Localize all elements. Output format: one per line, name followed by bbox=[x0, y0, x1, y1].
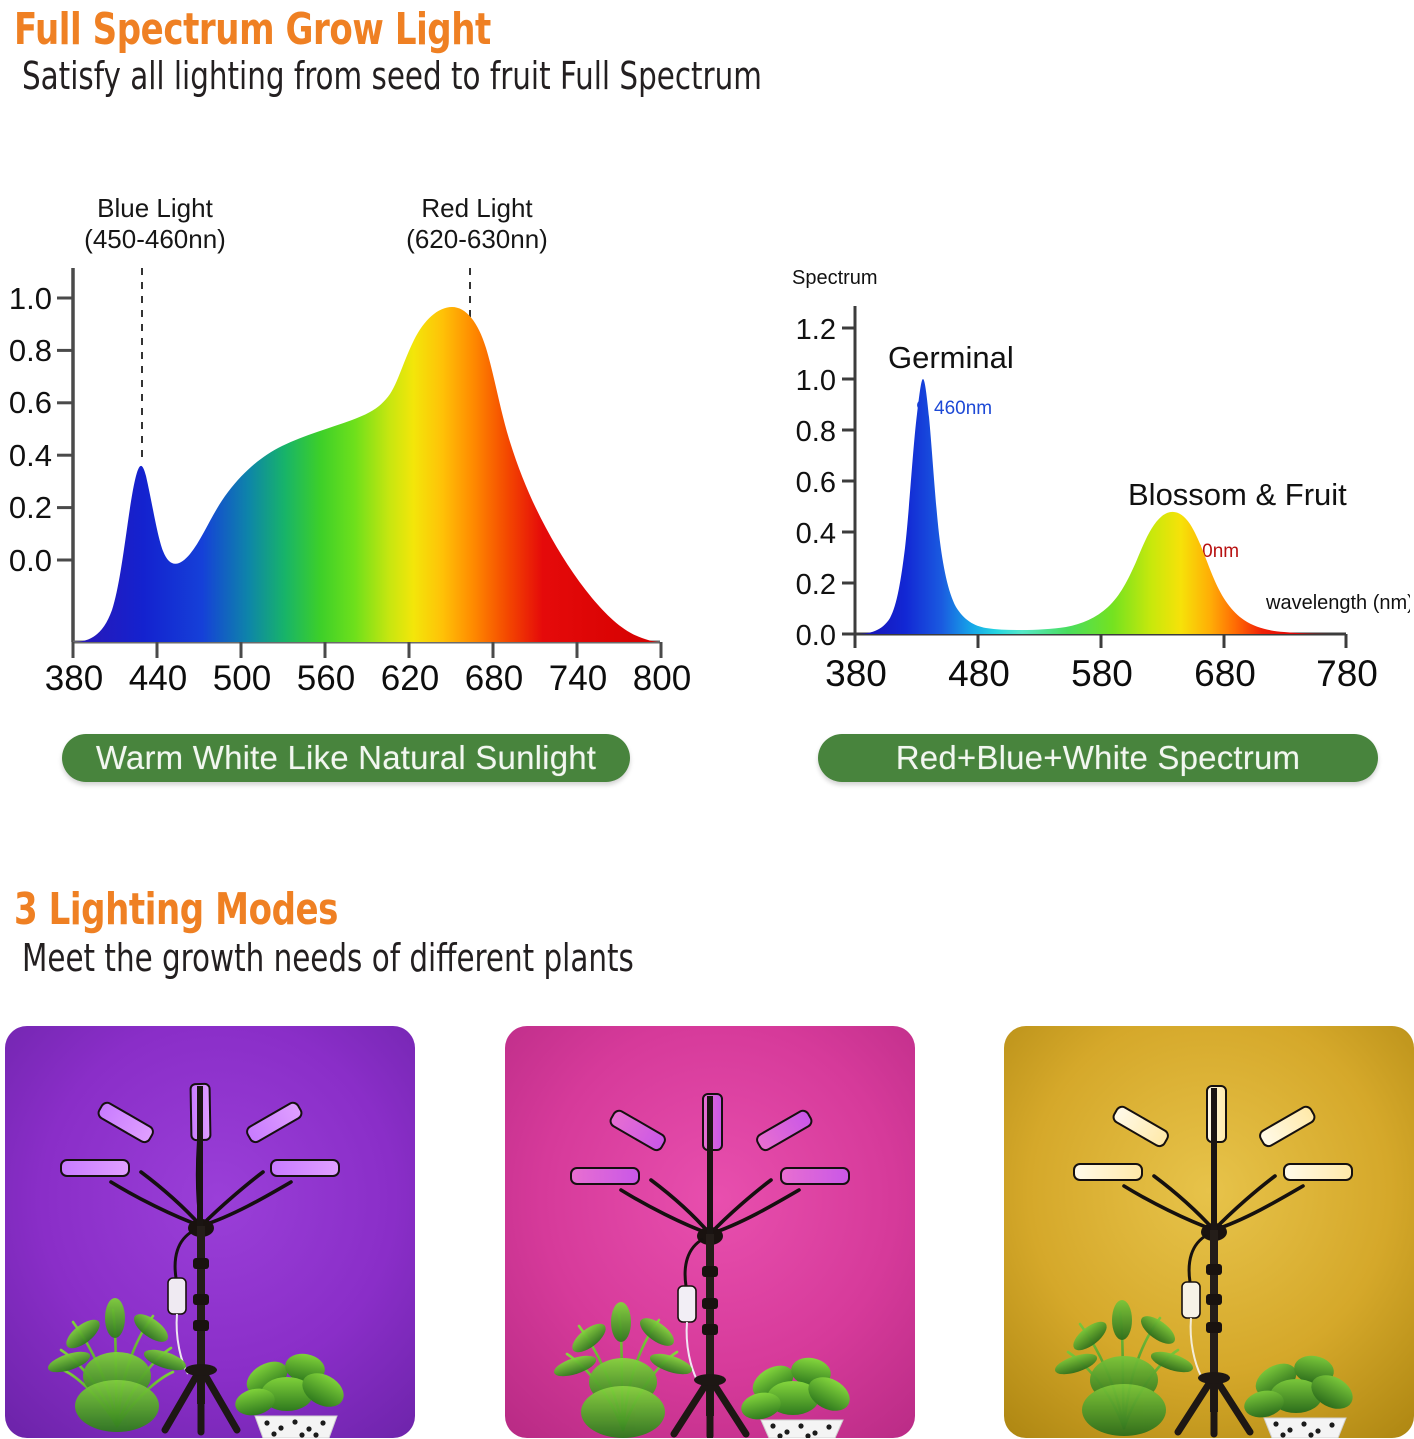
chart1-x-tick-labels: 380 440 500 560 620 680 740 800 bbox=[45, 659, 691, 698]
section-2-title: 3 Lighting Modes bbox=[14, 884, 338, 935]
x-tick: 500 bbox=[213, 659, 271, 698]
x-tick: 480 bbox=[948, 653, 1010, 694]
x-tick: 800 bbox=[633, 659, 691, 698]
controller-box bbox=[168, 1278, 186, 1314]
chart2-x-ticks bbox=[855, 634, 1346, 648]
banner-warm-white: Warm White Like Natural Sunlight bbox=[62, 734, 630, 782]
flower-pot bbox=[1264, 1418, 1346, 1438]
mode-photo-red-pink bbox=[505, 1026, 915, 1438]
section-1-subtitle: Satisfy all lighting from seed to fruit … bbox=[22, 54, 762, 98]
mode-photo-blue-purple bbox=[5, 1026, 415, 1438]
x-tick: 580 bbox=[1071, 653, 1133, 694]
section-1-title: Full Spectrum Grow Light bbox=[14, 4, 491, 55]
controller-box bbox=[1182, 1282, 1200, 1318]
x-tick: 440 bbox=[129, 659, 187, 698]
mode-photo-warm-white bbox=[1004, 1026, 1414, 1438]
x-tick: 380 bbox=[45, 659, 103, 698]
banner-red-blue-white-label: Red+Blue+White Spectrum bbox=[896, 739, 1300, 777]
chart1-x-ticks bbox=[73, 642, 661, 658]
x-tick: 780 bbox=[1316, 653, 1378, 694]
flower-pot bbox=[255, 1416, 337, 1438]
x-tick: 620 bbox=[381, 659, 439, 698]
warm-white-spectrum-chart: Blue Light (450-460nn) Red Light (620-63… bbox=[0, 180, 700, 700]
flower-pot bbox=[761, 1420, 843, 1438]
x-tick: 680 bbox=[465, 659, 523, 698]
section-2-subtitle: Meet the growth needs of different plant… bbox=[22, 936, 634, 980]
x-tick: 380 bbox=[825, 653, 887, 694]
banner-warm-white-label: Warm White Like Natural Sunlight bbox=[96, 739, 596, 777]
x-tick: 560 bbox=[297, 659, 355, 698]
x-tick: 740 bbox=[549, 659, 607, 698]
x-tick: 680 bbox=[1194, 653, 1256, 694]
chart2-x-tick-labels: 380 480 580 680 780 bbox=[825, 653, 1378, 694]
banner-red-blue-white: Red+Blue+White Spectrum bbox=[818, 734, 1378, 782]
controller-box bbox=[678, 1286, 696, 1322]
red-blue-white-spectrum-chart: Spectrum Germinal 460nm Blossom & Fruit … bbox=[770, 262, 1410, 700]
